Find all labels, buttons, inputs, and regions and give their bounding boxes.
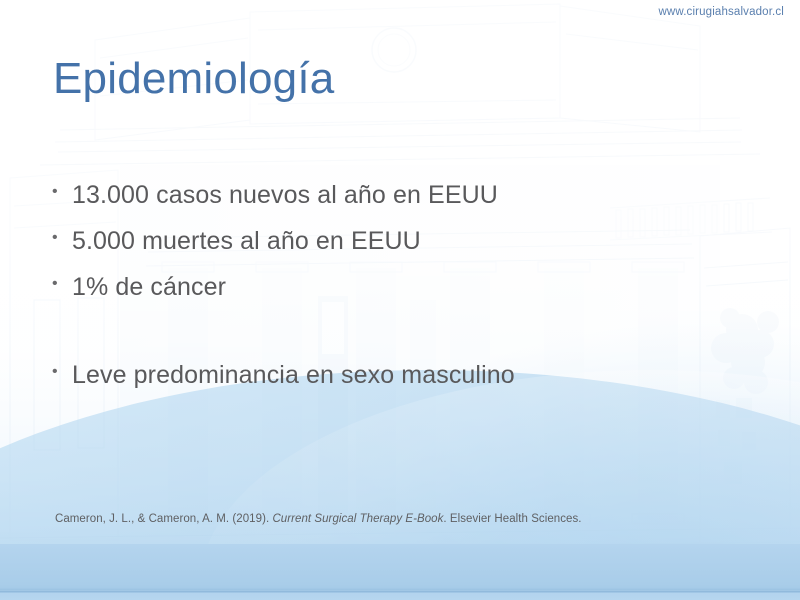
bullet-dot-icon — [52, 352, 72, 380]
bullet-text: 5.000 muertes al año en EEUU — [72, 218, 421, 264]
slide-content: www.cirugiahsalvador.cl Epidemiología 13… — [0, 0, 800, 600]
bullet-dot-icon — [52, 172, 72, 200]
list-item: Leve predominancia en sexo masculino — [52, 352, 732, 398]
list-item: 5.000 muertes al año en EEUU — [52, 218, 732, 264]
citation-reference: Cameron, J. L., & Cameron, A. M. (2019).… — [55, 511, 582, 527]
citation-publisher: . Elsevier Health Sciences. — [443, 513, 581, 525]
bullet-text: 13.000 casos nuevos al año en EEUU — [72, 172, 498, 218]
bullet-text: 1% de cáncer — [72, 264, 226, 310]
bullet-text: Leve predominancia en sexo masculino — [72, 352, 515, 398]
bullet-list: 13.000 casos nuevos al año en EEUU5.000 … — [52, 172, 732, 398]
bullet-dot-icon — [52, 264, 72, 292]
bullet-dot-icon — [52, 218, 72, 246]
slide-title: Epidemiología — [53, 54, 334, 104]
slide: www.cirugiahsalvador.cl Epidemiología 13… — [0, 0, 800, 600]
list-item: 1% de cáncer — [52, 264, 732, 310]
citation-authors-year: Cameron, J. L., & Cameron, A. M. (2019). — [55, 513, 272, 525]
citation-work-title: Current Surgical Therapy E-Book — [272, 513, 443, 525]
list-item: 13.000 casos nuevos al año en EEUU — [52, 172, 732, 218]
site-watermark: www.cirugiahsalvador.cl — [658, 6, 784, 18]
